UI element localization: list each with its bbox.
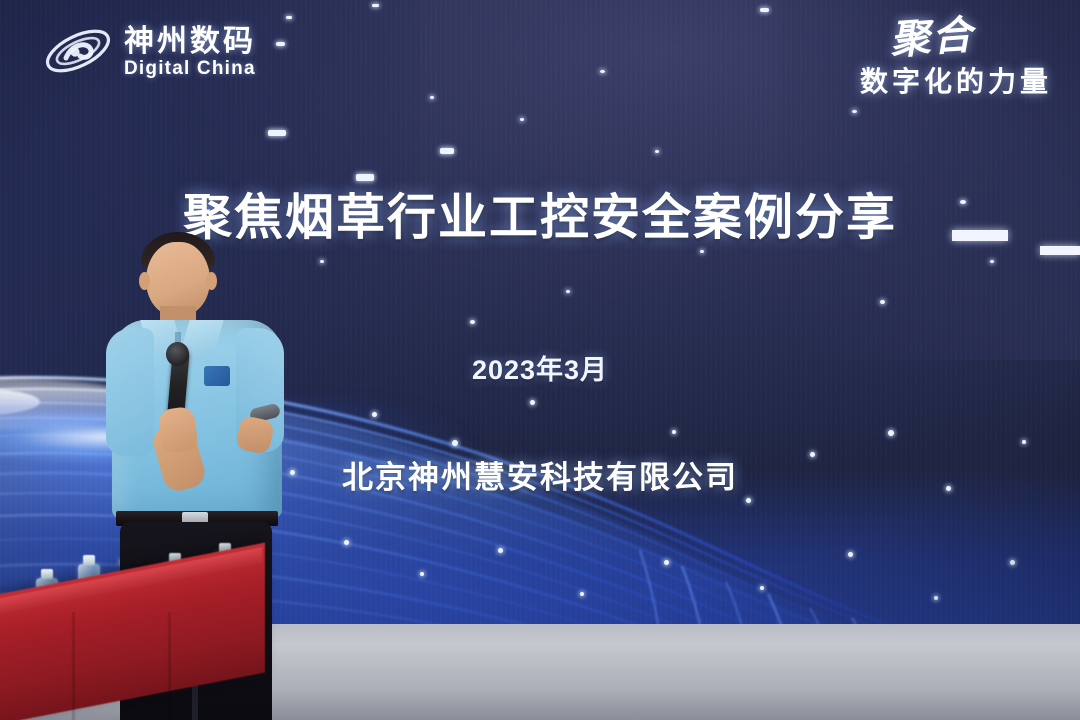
logo-name-en: Digital China: [124, 58, 256, 81]
bottle-cap: [83, 555, 95, 565]
conference-stage-photo: 神州数码 Digital China 聚合 数字化的力量 聚焦烟草行业工控安全案…: [0, 0, 1080, 720]
logo-brush-text: 聚合: [889, 15, 976, 61]
bottle-cap: [41, 569, 53, 579]
logo-name-cn: 神州数码: [124, 26, 256, 58]
speaker-head: [146, 242, 210, 316]
speaker-sleeve-left: [106, 328, 154, 456]
speaker-hand-left: [157, 406, 199, 455]
speaker-ear-left: [139, 272, 150, 290]
logo-juhe-event: 聚合 数字化的力量: [860, 18, 1052, 100]
tablecloth-fold-2: [168, 612, 171, 720]
swirl-galaxy-icon: [42, 22, 114, 85]
tablecloth-fold-1: [72, 612, 75, 720]
speaker-ear-right: [206, 272, 217, 290]
logo-digital-china: 神州数码 Digital China: [42, 22, 256, 85]
logo-tagline: 数字化的力量: [860, 60, 1052, 100]
speaker-chest-logo: [204, 366, 230, 386]
